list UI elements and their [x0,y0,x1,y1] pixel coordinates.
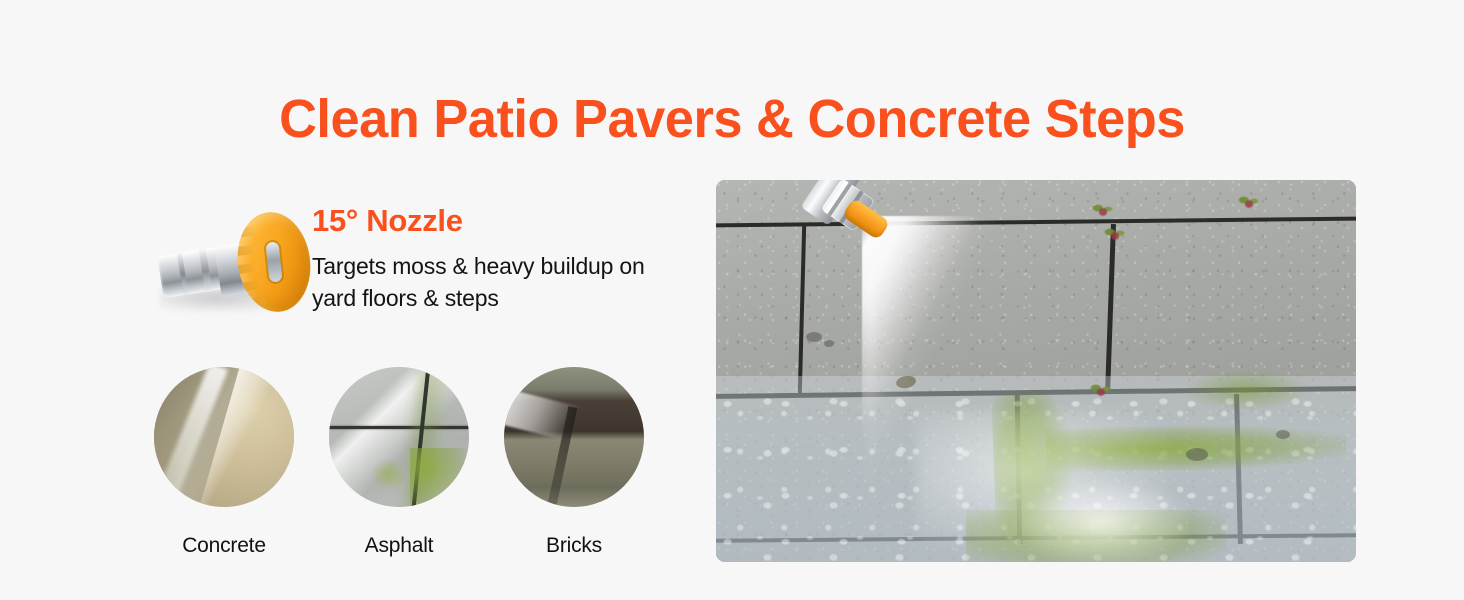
nozzle-heading: 15° Nozzle [312,203,463,239]
page-title: Clean Patio Pavers & Concrete Steps [22,88,1442,150]
bricks-surface-art [504,367,644,507]
bricks-thumbnail-image[interactable] [504,367,644,507]
infographic-banner: Clean Patio Pavers & Concrete Steps 15° … [0,0,1464,600]
asphalt-thumbnail-image[interactable] [329,367,469,507]
nozzle-product-image [152,198,310,328]
list-item[interactable]: Asphalt [329,367,469,558]
surface-label-bricks: Bricks [504,534,644,558]
nozzle-grip-ridges [231,207,316,316]
moss-patch [410,448,469,507]
list-item[interactable]: Bricks [504,367,644,558]
surface-label-asphalt: Asphalt [329,534,469,558]
nozzle-description: Targets moss & heavy buildup on yard flo… [312,250,692,314]
hero-image [716,180,1356,562]
concrete-surface-art [154,367,294,507]
spray-impact-splash [1016,480,1186,562]
weed-sprout [1236,192,1262,212]
left-content-column: 15° Nozzle Targets moss & heavy buildup … [0,180,700,580]
surface-label-concrete: Concrete [154,534,294,558]
surface-stain [806,332,822,342]
moss-patch [371,459,407,490]
concrete-thumbnail-image[interactable] [154,367,294,507]
list-item[interactable]: Concrete [154,367,294,558]
surface-stain [824,340,834,347]
